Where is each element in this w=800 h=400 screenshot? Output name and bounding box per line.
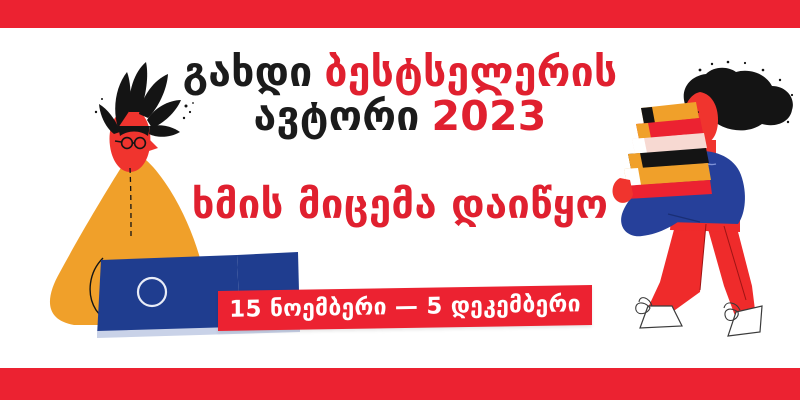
pants-back-leg bbox=[646, 222, 706, 318]
promo-banner: გახდიბესტსელერის ავტორი2023 ხმის მიცემა … bbox=[0, 0, 800, 400]
hand-shape bbox=[613, 178, 633, 203]
illustration-person-carrying-books bbox=[0, 0, 800, 400]
book-stack bbox=[623, 102, 712, 199]
date-range-ribbon: 15 ნოემბერი — 5 დეკემბერი bbox=[218, 285, 592, 331]
date-range-text: 15 ნოემბერი — 5 დეკემბერი bbox=[218, 291, 592, 323]
